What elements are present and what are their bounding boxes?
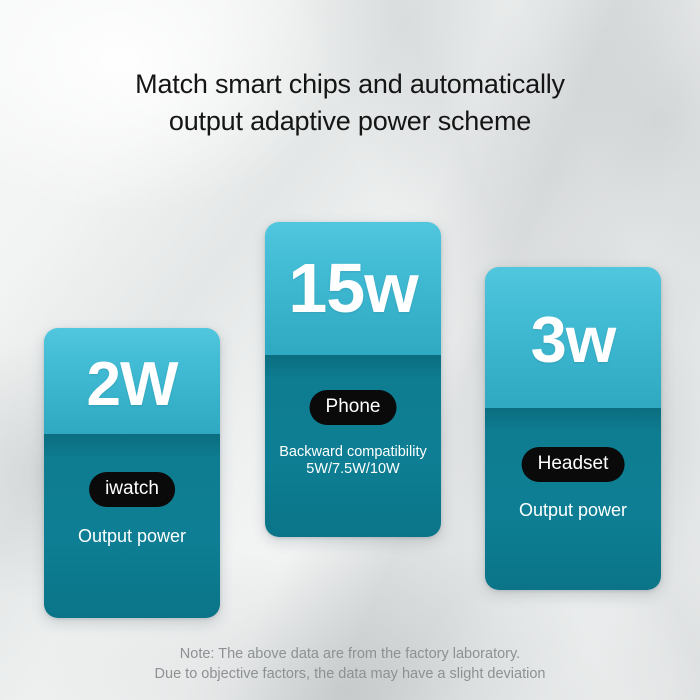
bar-iwatch-caption: Output power (44, 526, 220, 547)
bar-iwatch: 2W iwatch Output power (44, 328, 220, 618)
bar-phone-value-label: 15w (265, 253, 441, 323)
bar-iwatch-value-label: 2W (44, 354, 220, 416)
page-title-line-1: Match smart chips and automatically (0, 66, 700, 103)
bar-phone-device-badge: Phone (310, 390, 397, 425)
page-title: Match smart chips and automatically outp… (0, 66, 700, 140)
bar-headset: 3w Headset Output power (485, 267, 661, 590)
bar-headset-caption: Output power (485, 500, 661, 521)
bar-phone-caption-line-2: 5W/7.5W/10W (306, 461, 399, 477)
disclaimer-note: Note: The above data are from the factor… (0, 644, 700, 684)
bar-phone-caption: Backward compatibility 5W/7.5W/10W (265, 444, 441, 478)
disclaimer-note-line-2: Due to objective factors, the data may h… (0, 664, 700, 684)
bar-headset-bottom-segment (485, 408, 661, 590)
bar-phone-caption-line-1: Backward compatibility (279, 444, 426, 460)
bar-headset-value-label: 3w (485, 307, 661, 372)
bar-phone: 15w Phone Backward compatibility 5W/7.5W… (265, 222, 441, 537)
disclaimer-note-line-1: Note: The above data are from the factor… (0, 644, 700, 664)
bar-iwatch-device-badge: iwatch (89, 472, 175, 507)
page-title-line-2: output adaptive power scheme (0, 103, 700, 140)
bar-headset-device-badge: Headset (522, 447, 625, 482)
